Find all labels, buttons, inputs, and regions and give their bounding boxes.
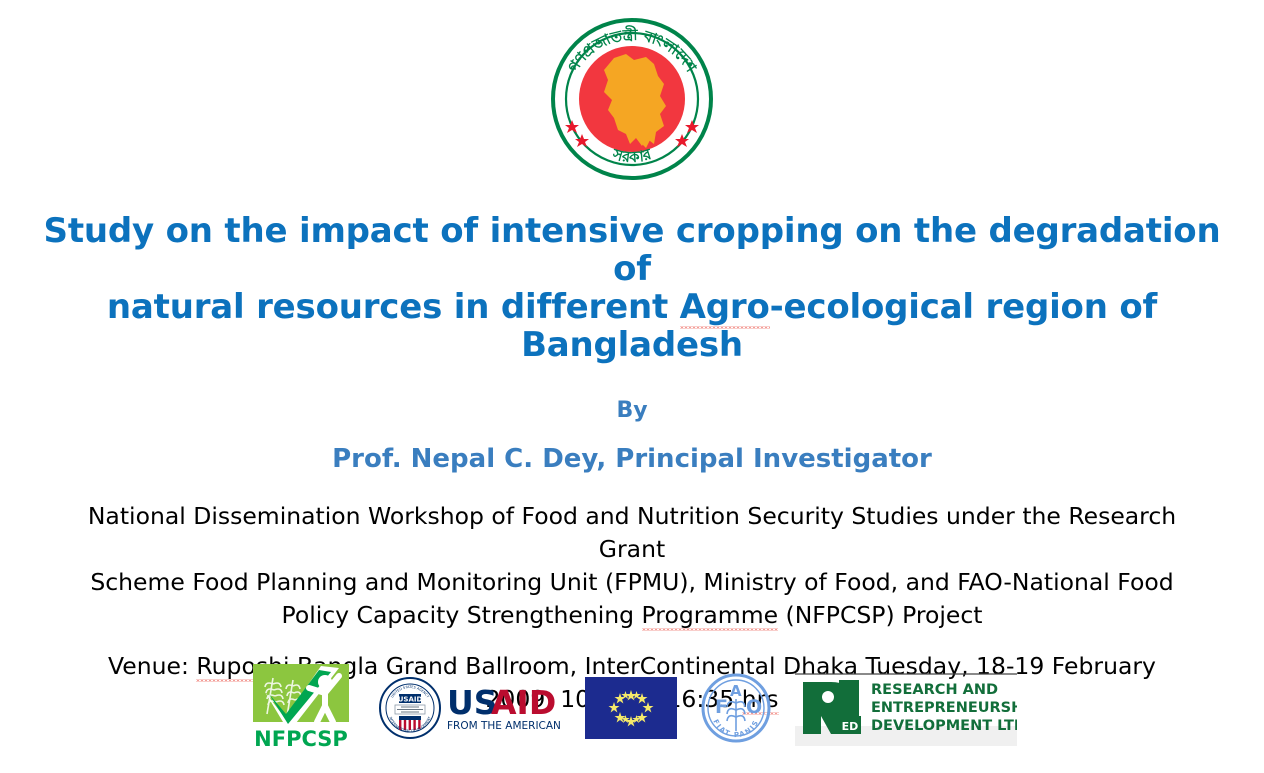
red-wordmark-line-1: RESEARCH AND bbox=[871, 682, 998, 698]
event-misspelled-word: Programme bbox=[642, 601, 779, 631]
research-and-entrepreneurship-development-logo: ED RESEARCH AND ENTREPRENEURSHIP DEVELOP… bbox=[795, 668, 1017, 748]
fao-letter-o: O bbox=[746, 696, 762, 718]
red-wordmark-line-3: DEVELOPMENT LTD bbox=[871, 718, 1017, 734]
by-label: By bbox=[616, 398, 647, 423]
title-line-1: Study on the impact of intensive croppin… bbox=[44, 211, 1221, 289]
author-name: Prof. Nepal C. Dey, Principal Investigat… bbox=[332, 444, 932, 474]
usaid-logo: USAID UNITED STATES AGENCY bbox=[377, 672, 563, 744]
usaid-tagline: FROM THE AMERICAN PEOPLE bbox=[447, 720, 563, 732]
nfpcsp-wordmark: NFPCSP bbox=[254, 727, 348, 751]
event-description: National Dissemination Workshop of Food … bbox=[72, 500, 1192, 632]
svg-text:USAID: USAID bbox=[398, 696, 423, 704]
title-line-2-before: natural resources in different bbox=[107, 287, 680, 327]
event-line-2: Scheme Food Planning and Monitoring Unit… bbox=[90, 568, 1173, 596]
red-letter-ed: ED bbox=[842, 720, 859, 733]
title-line-2-after: -ecological region of bbox=[770, 287, 1157, 327]
emblem-svg: গণপ্রজাতন্ত্রী বাংলাদেশ সরকার bbox=[542, 14, 722, 184]
event-line-3-before: Policy Capacity Strengthening bbox=[281, 601, 641, 629]
red-wordmark-line-2: ENTREPRENEURSHIP bbox=[871, 700, 1017, 716]
nfpcsp-logo: NFPCSP bbox=[247, 662, 355, 754]
event-line-1: National Dissemination Workshop of Food … bbox=[88, 502, 1176, 563]
usaid-seal: USAID UNITED STATES AGENCY bbox=[380, 678, 440, 738]
fao-letter-f: F bbox=[715, 696, 728, 718]
partner-logo-strip: NFPCSP USAID bbox=[0, 662, 1264, 754]
fao-letter-a: A bbox=[730, 682, 742, 700]
usaid-wordmark-us: US bbox=[447, 683, 498, 722]
title-line-3: Bangladesh bbox=[521, 325, 743, 365]
fao-logo: F A O FIAT PANIS bbox=[699, 671, 773, 745]
event-line-3-after: (NFPCSP) Project bbox=[778, 601, 982, 629]
title-misspelled-word: Agro bbox=[680, 287, 770, 329]
usaid-wordmark-aid: AID bbox=[491, 683, 556, 722]
fao-wheat-ear bbox=[727, 699, 745, 731]
european-union-flag bbox=[585, 677, 677, 739]
presentation-slide: গণপ্রজাতন্ত্রী বাংলাদেশ সরকার Study on t… bbox=[0, 0, 1264, 773]
government-of-bangladesh-emblem: গণপ্রজাতন্ত্রী বাংলাদেশ সরকার bbox=[542, 14, 722, 184]
slide-title: Study on the impact of intensive croppin… bbox=[20, 212, 1245, 364]
